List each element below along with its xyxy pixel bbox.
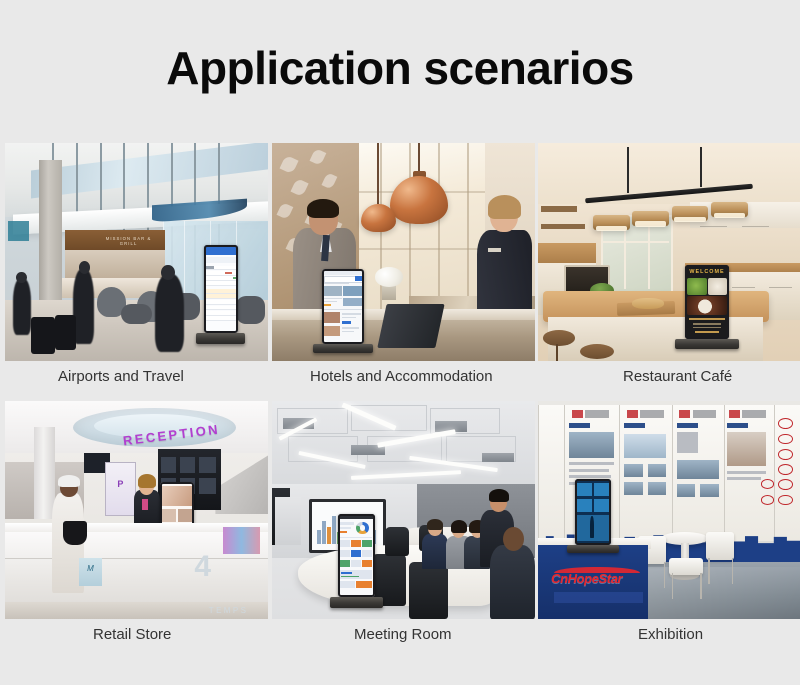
scenario-card-restaurant[interactable]: WELCOME: [538, 143, 800, 361]
scenario-photo-exhibition: CnHopeStar: [538, 401, 800, 619]
scenario-row-2: P RECEPTION: [0, 401, 800, 659]
scenario-caption-exhibition: Exhibition: [638, 625, 703, 645]
scenario-caption-meeting: Meeting Room: [354, 625, 452, 645]
hotel-kiosk: [322, 269, 364, 343]
scenario-card-meeting[interactable]: Meeting Room: [272, 401, 535, 619]
restaurant-kiosk: WELCOME: [685, 265, 730, 339]
scenario-photo-hotels: [272, 143, 535, 361]
retail-scene: P RECEPTION: [5, 401, 268, 619]
scenario-card-airports[interactable]: MISSION BAR & GRILL: [5, 143, 268, 361]
retail-mall-logo-sub: TEMPS: [194, 606, 262, 615]
scenario-photo-airports: MISSION BAR & GRILL: [5, 143, 268, 361]
airport-scene: MISSION BAR & GRILL: [5, 143, 268, 361]
airport-kiosk: [204, 245, 238, 332]
retail-bag-monogram: M: [79, 564, 103, 573]
scenario-photo-retail: P RECEPTION: [5, 401, 268, 619]
hotel-scene: [272, 143, 535, 361]
scenario-photo-restaurant: WELCOME: [538, 143, 800, 361]
scenario-card-retail[interactable]: P RECEPTION: [5, 401, 268, 619]
scenario-caption-restaurant: Restaurant Café: [623, 367, 732, 387]
scenario-row-1: MISSION BAR & GRILL: [0, 143, 800, 401]
scenario-caption-hotels: Hotels and Accommodation: [310, 367, 493, 387]
scenario-grid: MISSION BAR & GRILL: [0, 143, 800, 659]
meeting-scene: [272, 401, 535, 619]
meeting-kiosk: [338, 514, 375, 597]
scenario-caption-airports: Airports and Travel: [58, 367, 184, 387]
airport-signage-text: MISSION BAR & GRILL: [97, 236, 160, 245]
restaurant-scene: WELCOME: [538, 143, 800, 361]
application-scenarios-page: Application scenarios: [0, 0, 800, 685]
scenario-card-exhibition[interactable]: CnHopeStar: [538, 401, 800, 619]
scenario-caption-retail: Retail Store: [93, 625, 171, 645]
exhibition-kiosk: [575, 479, 612, 544]
scenario-card-hotels[interactable]: Hotels and Accommodation: [272, 143, 535, 361]
exhibition-brand-logo: CnHopeStar: [551, 571, 645, 591]
scenario-photo-meeting: [272, 401, 535, 619]
retail-wayfinder-letter: P: [106, 479, 135, 489]
exhibition-scene: CnHopeStar: [538, 401, 800, 619]
page-title: Application scenarios: [0, 42, 800, 94]
